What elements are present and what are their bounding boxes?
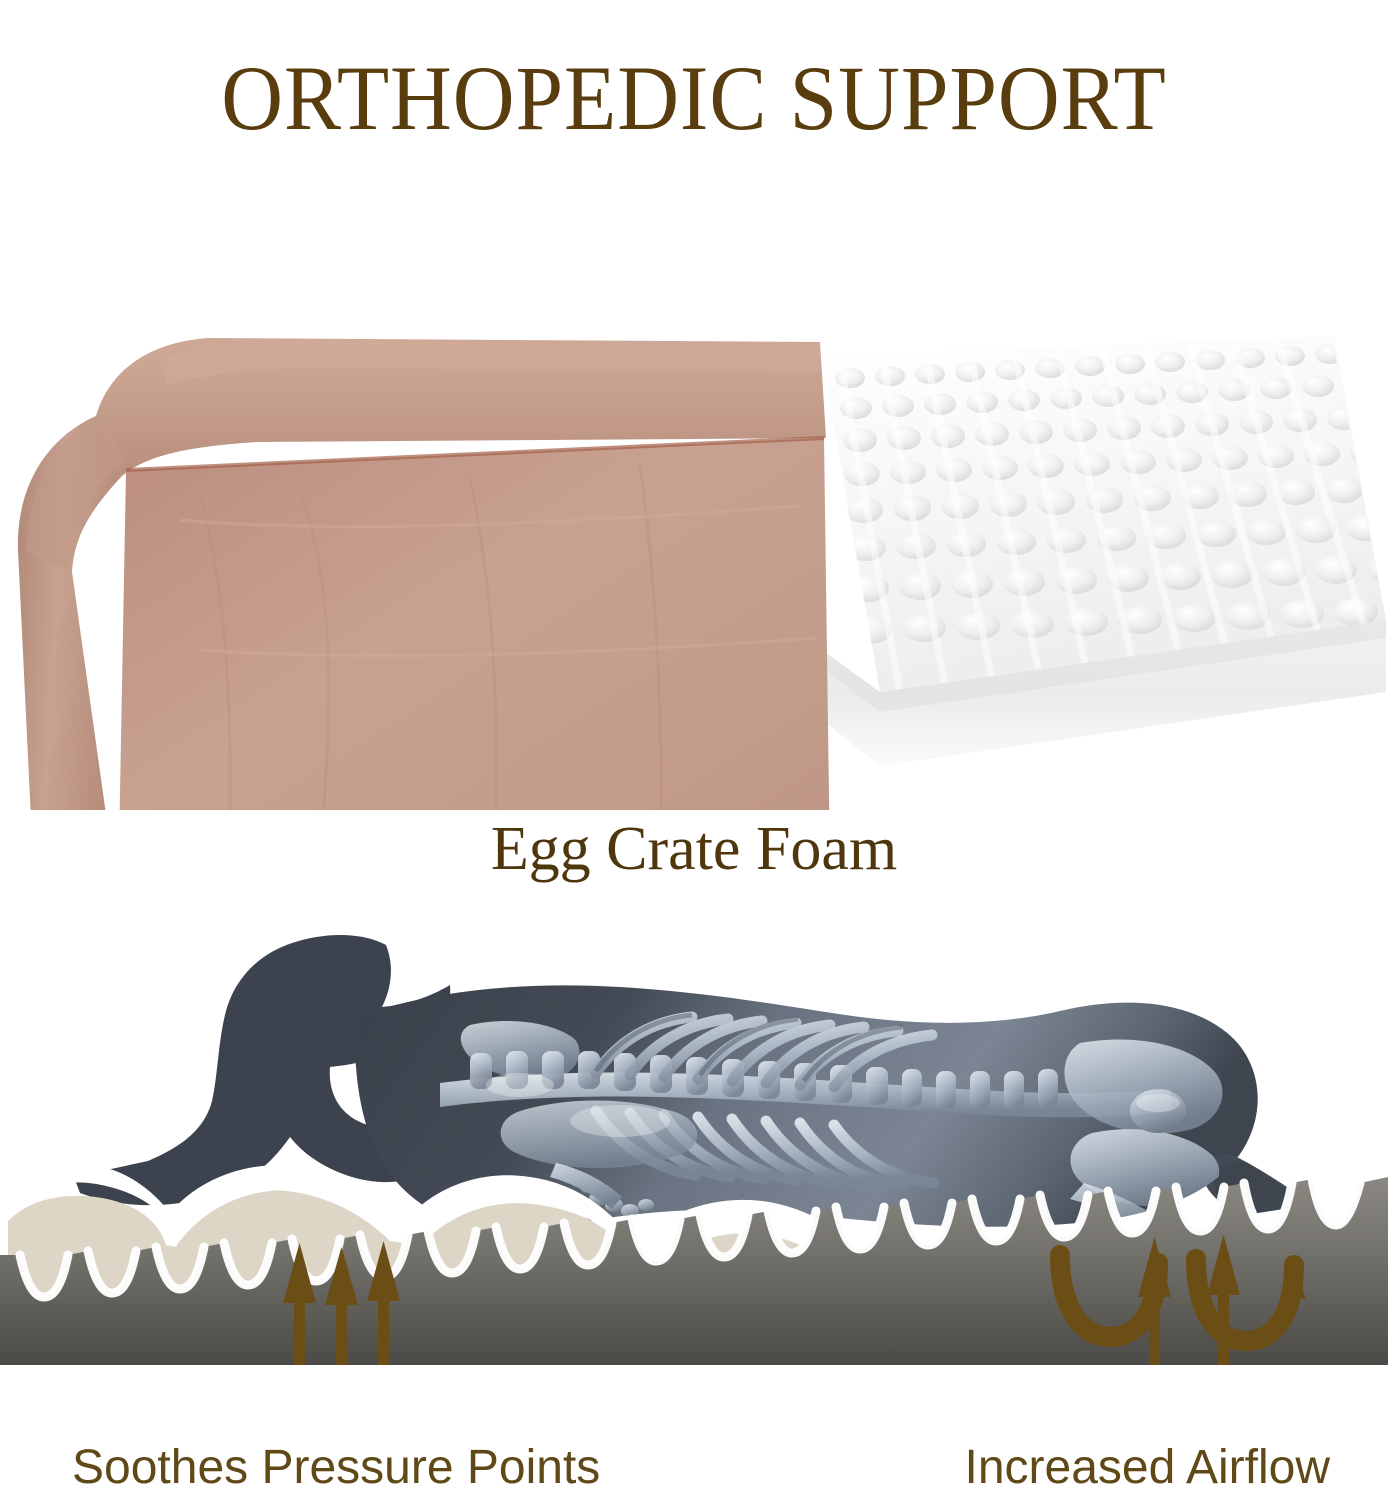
product-photo: BEDFOLKS [0,320,1388,810]
egg-crate-foam-caption: Egg Crate Foam [0,818,1388,880]
dog-bed-illustration: BEDFOLKS [0,320,1388,810]
caption-increased-airflow: Increased Airflow [964,1444,1330,1492]
feature-captions: Soothes Pressure Points Increased Airflo… [0,1438,1388,1500]
dog-foam-cross-section-svg [0,925,1388,1365]
caption-soothes-pressure-points: Soothes Pressure Points [72,1444,600,1492]
page-title: ORTHOPEDIC SUPPORT [49,52,1340,144]
dog-bed-body: BEDFOLKS [9,338,832,810]
pressure-point-arrows [283,1241,400,1365]
egg-crate-foam-slab [822,336,1388,766]
cross-section-diagram [0,925,1388,1365]
